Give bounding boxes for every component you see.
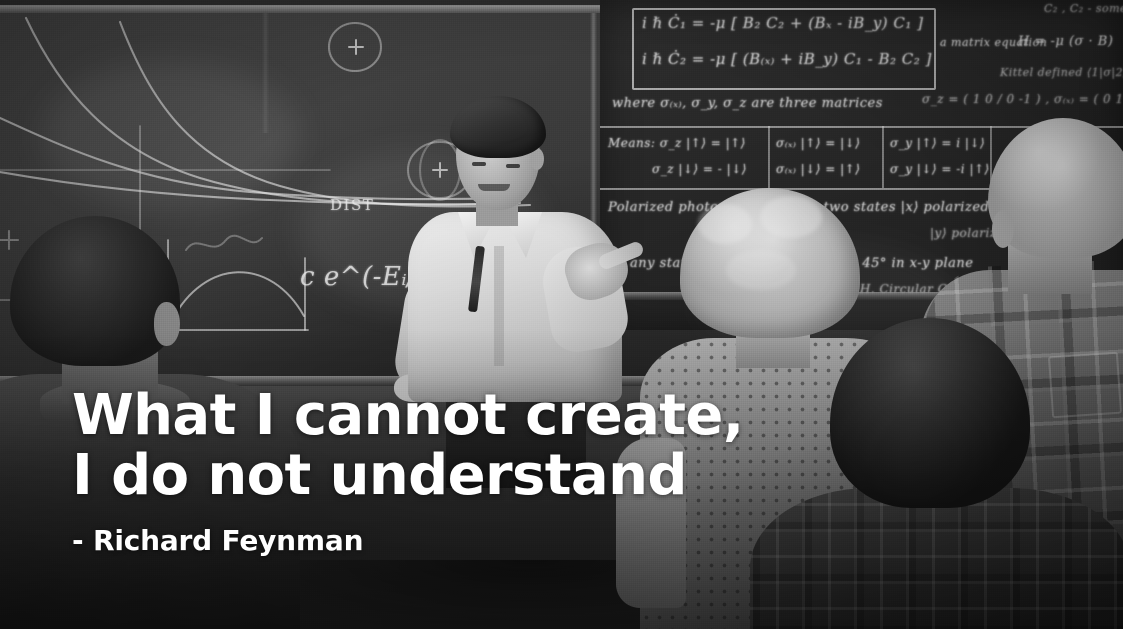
quote-text: What I cannot create, I do not understan… — [72, 386, 744, 506]
quote-card: i ℏ Ċ₁ = -μ [ B₂ C₂ + (Bₓ - iB_y) C₁ ] i… — [0, 0, 1123, 629]
quote-line-1: What I cannot create, — [72, 386, 744, 446]
quote-attribution: - Richard Feynman — [72, 524, 363, 558]
quote-line-2: I do not understand — [72, 446, 744, 506]
text-overlay: What I cannot create, I do not understan… — [0, 0, 1123, 629]
